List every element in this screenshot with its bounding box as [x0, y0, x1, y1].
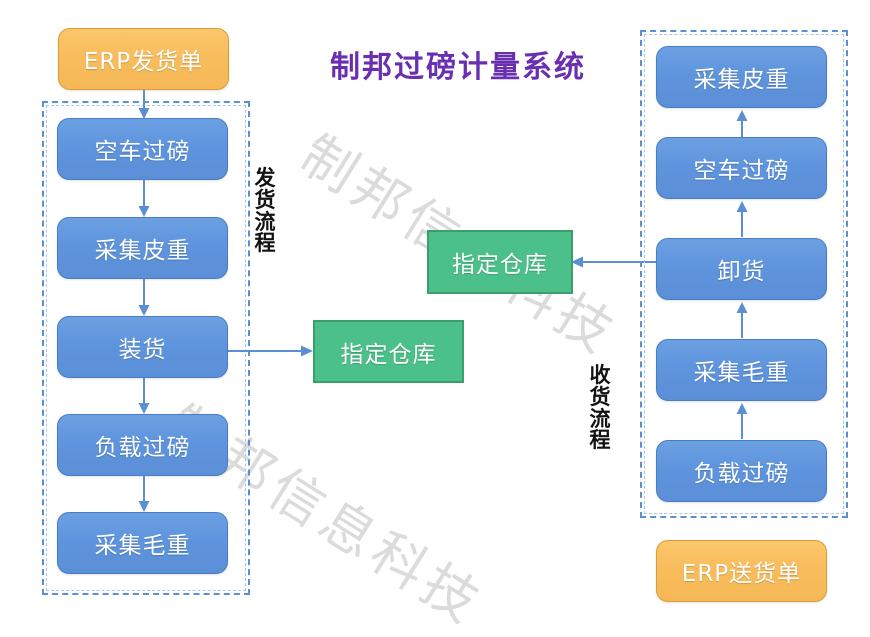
outbound-step-4[interactable]: 负载过磅	[57, 414, 228, 476]
outbound-step-2[interactable]: 采集皮重	[57, 217, 228, 279]
outbound-step-1[interactable]: 空车过磅	[57, 118, 228, 180]
outbound-group-label: 发货流程	[253, 168, 277, 255]
page-title: 制邦过磅计量系统	[330, 42, 580, 86]
outbound-warehouse-node[interactable]: 指定仓库	[313, 320, 464, 383]
inbound-step-3[interactable]: 卸货	[656, 238, 827, 300]
outbound-step-5[interactable]: 采集毛重	[57, 512, 228, 574]
inbound-warehouse-node[interactable]: 指定仓库	[427, 230, 573, 294]
outbound-step-3[interactable]: 装货	[57, 316, 228, 378]
inbound-start-node[interactable]: ERP送货单	[656, 540, 827, 602]
inbound-step-1[interactable]: 负载过磅	[656, 440, 827, 502]
flowchart-canvas: 制邦信息科技 制邦信息科技 制邦过磅计量系统 发货流程 ERP发货单 空车过磅 …	[0, 0, 870, 637]
inbound-step-5[interactable]: 采集皮重	[656, 46, 827, 108]
inbound-step-4[interactable]: 空车过磅	[656, 137, 827, 199]
inbound-step-2[interactable]: 采集毛重	[656, 339, 827, 401]
inbound-group-label: 收货流程	[588, 365, 612, 452]
outbound-start-node[interactable]: ERP发货单	[58, 28, 229, 90]
